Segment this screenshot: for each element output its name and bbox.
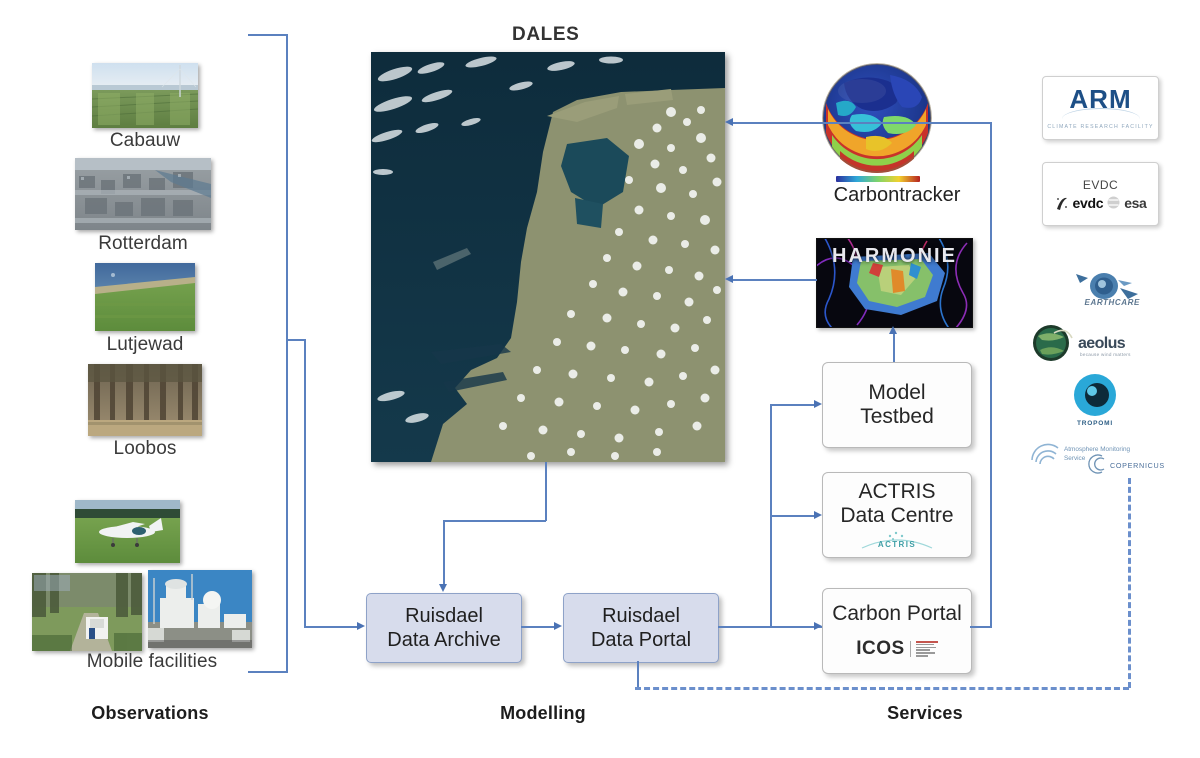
esa-globe-icon <box>1107 196 1120 209</box>
carbontracker-globe-icon <box>822 63 932 173</box>
partner-logo-copernicus: COPERNICUS <box>1086 450 1182 478</box>
observation-photo-cabauw <box>92 63 198 128</box>
evdc-marks: evdc esa <box>1055 195 1147 211</box>
connector-portal-dash-stub <box>637 661 639 687</box>
connector-trunk-to-actris <box>770 515 816 517</box>
connector-right-trunk <box>990 122 992 627</box>
diagram-canvas: Cabauw Rotterdam <box>0 0 1200 758</box>
connector-carbontracker-to-map <box>733 122 991 124</box>
observation-label-cabauw: Cabauw <box>60 130 230 152</box>
service-box-carbon-portal-line1: Carbon Portal <box>832 602 962 626</box>
observation-label-mobile-facilities: Mobile facilities <box>52 651 252 673</box>
arrow-map-to-archive <box>439 584 447 592</box>
connector-obs-top <box>248 34 288 36</box>
evdc-wordmark: evdc <box>1073 195 1104 211</box>
observation-label-loobos: Loobos <box>60 438 230 460</box>
actris-logo: ACTRIS <box>860 530 934 550</box>
connector-obs-to-archive <box>304 626 357 628</box>
connector-obs-bottom <box>248 671 288 673</box>
observation-photo-mobile-van <box>32 573 142 651</box>
earthcare-satellite-icon: EARTHCARE <box>1068 272 1160 306</box>
svg-text:EARTHCARE: EARTHCARE <box>1085 298 1141 306</box>
section-caption-observations: Observations <box>55 703 245 724</box>
arm-subtitle: CLIMATE RESEARCH FACILITY <box>1047 124 1153 130</box>
copernicus-logo-icon: COPERNICUS <box>1088 453 1180 475</box>
svg-text:Service: Service <box>1064 455 1086 462</box>
icos-wordmark: ICOS <box>856 638 904 660</box>
svg-text:COPERNICUS: COPERNICUS <box>1110 461 1165 470</box>
service-box-actris-data-centre[interactable]: ACTRIS Data Centre ACTRIS <box>822 472 972 558</box>
partner-logo-tropomi: TROPOMI <box>1050 372 1140 428</box>
connector-harmonie-to-map <box>733 279 817 281</box>
ruisdael-data-archive-text: Ruisdael Data Archive <box>387 604 500 652</box>
arrow-testbed-to-harmonie <box>889 326 897 334</box>
section-caption-modelling: Modelling <box>448 703 638 724</box>
ruisdael-data-archive-box[interactable]: Ruisdael Data Archive <box>366 593 522 663</box>
observation-label-lutjewad: Lutjewad <box>60 334 230 356</box>
svg-text:because wind matters: because wind matters <box>1080 352 1131 357</box>
icos-bars-glyph <box>910 641 938 657</box>
connector-obs-inner-top <box>286 339 306 341</box>
observation-label-rotterdam: Rotterdam <box>58 233 228 255</box>
connector-carbonportal-right <box>970 626 992 628</box>
partner-logo-evdc: EVDC evdc esa <box>1042 162 1159 226</box>
carbontracker-label: Carbontracker <box>822 184 972 207</box>
arrow-to-model-testbed <box>814 400 822 408</box>
ruisdael-data-portal-text: Ruisdael Data Portal <box>591 604 691 652</box>
service-box-model-testbed-line2: Testbed <box>860 405 934 429</box>
connector-map-to-archive <box>443 520 445 585</box>
netherlands-satellite-map <box>371 52 725 462</box>
arrow-obs-to-archive <box>357 622 365 630</box>
esa-wordmark: esa <box>1124 195 1146 211</box>
carbontracker-colorbar <box>836 176 920 182</box>
harmonie-label: HARMONIE <box>817 245 972 268</box>
service-box-actris-line2: Data Centre <box>840 504 953 528</box>
partner-logo-earthcare: EARTHCARE <box>1060 265 1168 313</box>
connector-trunk-to-testbed <box>770 404 816 406</box>
observation-photo-lutjewad <box>95 263 195 331</box>
service-box-carbon-portal[interactable]: Carbon Portal ICOS <box>822 588 972 674</box>
connector-dashed-vertical <box>1128 478 1131 688</box>
section-caption-services: Services <box>830 703 1020 724</box>
partner-logo-aeolus: aeolus because wind matters <box>1030 322 1160 364</box>
evdc-swoosh-icon <box>1055 195 1069 211</box>
connector-map-left <box>443 520 546 522</box>
arrow-to-carbon-portal <box>814 622 822 630</box>
observation-photo-aircraft <box>75 500 180 563</box>
service-box-actris-line1: ACTRIS <box>858 480 935 504</box>
evdc-title: EVDC <box>1083 178 1118 192</box>
arrow-harmonie-to-map <box>725 275 733 283</box>
connector-dashed-bottom <box>635 687 1129 690</box>
observation-photo-mobile-lab <box>148 570 252 648</box>
arrow-to-actris <box>814 511 822 519</box>
connector-map-down <box>545 462 547 521</box>
arrow-carbontracker-to-map <box>725 118 733 126</box>
connector-obs-outer-vertical <box>286 34 288 672</box>
icos-logo: ICOS <box>856 638 937 660</box>
observation-photo-loobos <box>88 364 202 436</box>
svg-text:aeolus: aeolus <box>1078 335 1126 352</box>
observation-photo-rotterdam <box>75 158 211 230</box>
svg-text:TROPOMI: TROPOMI <box>1077 420 1113 427</box>
aeolus-logo-icon: aeolus because wind matters <box>1032 324 1158 362</box>
connector-testbed-to-harmonie <box>893 332 895 362</box>
service-box-model-testbed-line1: Model <box>868 381 925 405</box>
tropomi-eye-icon: TROPOMI <box>1056 373 1134 427</box>
connector-archive-to-portal <box>521 626 555 628</box>
partner-logo-arm: ARM CLIMATE RESEARCH FACILITY <box>1042 76 1159 140</box>
dales-title: DALES <box>512 24 579 46</box>
arrow-archive-to-portal <box>554 622 562 630</box>
ruisdael-data-portal-box[interactable]: Ruisdael Data Portal <box>563 593 719 663</box>
service-box-model-testbed[interactable]: Model Testbed <box>822 362 972 448</box>
svg-text:ACTRIS: ACTRIS <box>878 540 916 549</box>
connector-obs-inner-vertical <box>304 339 306 627</box>
harmonie-model-image: HARMONIE <box>816 238 973 328</box>
